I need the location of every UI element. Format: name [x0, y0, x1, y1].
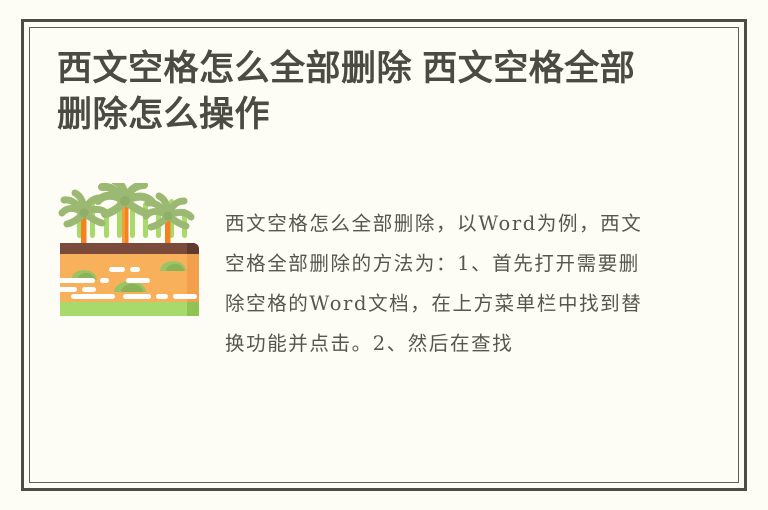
page-title: 西文空格怎么全部删除 西文空格全部删除怎么操作	[57, 46, 657, 138]
article-thumbnail[interactable]	[57, 180, 207, 333]
oasis-palm-trees-icon	[57, 183, 207, 333]
article-body-row: 西文空格怎么全部删除，以Word为例，西文空格全部删除的方法为：1、首先打开需要…	[57, 180, 718, 383]
article-body-text: 西文空格怎么全部删除，以Word为例，西文空格全部删除的方法为：1、首先打开需要…	[225, 200, 645, 364]
page-content: 西文空格怎么全部删除 西文空格全部删除怎么操作	[57, 46, 718, 470]
article-page: 西文空格怎么全部删除 西文空格全部删除怎么操作	[0, 0, 768, 510]
